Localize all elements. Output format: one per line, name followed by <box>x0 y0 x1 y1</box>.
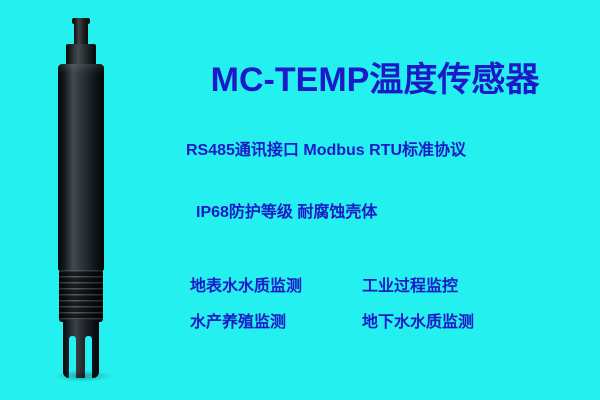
product-photo <box>30 18 150 378</box>
probe-body <box>58 64 104 272</box>
application-item: 工业过程监控 <box>362 272 542 296</box>
spec-line-communication: RS485通讯接口 Modbus RTU标准协议 <box>186 136 466 160</box>
application-row: 地表水水质监测 工业过程监控 <box>190 272 570 296</box>
probe-threaded-section <box>59 270 103 322</box>
application-item: 水产养殖监测 <box>190 308 362 332</box>
probe-neck <box>66 44 96 66</box>
application-row: 水产养殖监测 地下水水质监测 <box>190 308 570 332</box>
probe-shadow <box>54 370 112 382</box>
application-item: 地表水水质监测 <box>190 272 362 296</box>
spec-line-protection: IP68防护等级 耐腐蚀壳体 <box>196 198 377 222</box>
page-title: MC-TEMP温度传感器 <box>170 52 580 101</box>
product-banner: MC-TEMP温度传感器 RS485通讯接口 Modbus RTU标准协议 IP… <box>0 0 600 400</box>
application-list: 地表水水质监测 工业过程监控 水产养殖监测 地下水水质监测 <box>190 272 570 344</box>
probe-connector <box>74 18 88 46</box>
application-item: 地下水水质监测 <box>362 308 542 332</box>
